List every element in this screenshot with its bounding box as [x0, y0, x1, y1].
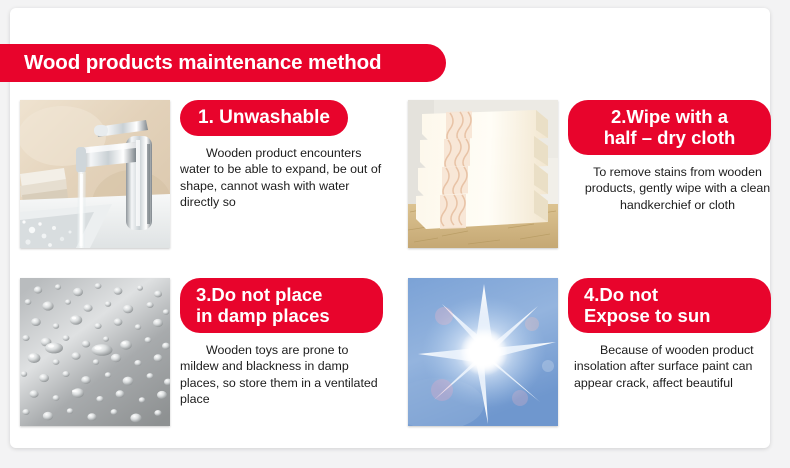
tip-heading-3: 3.Do not place in damp places	[180, 278, 383, 333]
tip-heading-4-line1: 4.Do not	[584, 284, 658, 305]
tip-heading-4: 4.Do not Expose to sun	[568, 278, 771, 333]
tip-heading-2-line2: half – dry cloth	[604, 127, 736, 148]
tip-heading-3-line1: 3.Do not place	[196, 284, 322, 305]
stacked-towels-photo	[408, 100, 558, 248]
page-title: Wood products maintenance method	[0, 51, 381, 75]
tip-panel-3-body: 3.Do not place in damp places Wooden toy…	[180, 278, 400, 450]
tip-panel-1-body: 1. Unwashable Wooden product encounters …	[180, 100, 400, 272]
faucet-running-water-photo	[20, 100, 170, 248]
tip-heading-2: 2.Wipe with a half – dry cloth	[568, 100, 771, 155]
infographic-stage: Wood products maintenance method	[0, 0, 790, 468]
tips-grid: 1. Unwashable Wooden product encounters …	[10, 100, 770, 446]
water-droplets-photo	[20, 278, 170, 426]
tip-panel-4: 4.Do not Expose to sun Because of wooden…	[408, 278, 788, 450]
tip-panel-2-body: 2.Wipe with a half – dry cloth To remove…	[568, 100, 788, 272]
tip-panel-2: 2.Wipe with a half – dry cloth To remove…	[408, 100, 788, 272]
bright-sun-sky-photo	[408, 278, 558, 426]
tip-heading-4-line2: Expose to sun	[584, 305, 710, 326]
tip-description-2: To remove stains from wooden products, g…	[574, 164, 781, 213]
tip-panel-4-body: 4.Do not Expose to sun Because of wooden…	[568, 278, 788, 450]
tip-description-1: Wooden product encounters water to be ab…	[180, 145, 387, 211]
tip-heading-1: 1. Unwashable	[180, 100, 348, 136]
tip-heading-2-line1: 2.Wipe with a	[611, 106, 728, 127]
tip-description-4: Because of wooden product insolation aft…	[574, 342, 781, 391]
tip-panel-3: 3.Do not place in damp places Wooden toy…	[20, 278, 400, 450]
tip-heading-3-line2: in damp places	[196, 305, 330, 326]
main-title-banner: Wood products maintenance method	[0, 44, 446, 82]
tip-description-3: Wooden toys are prone to mildew and blac…	[180, 342, 387, 408]
content-card: Wood products maintenance method	[10, 8, 770, 448]
tip-panel-1: 1. Unwashable Wooden product encounters …	[20, 100, 400, 272]
